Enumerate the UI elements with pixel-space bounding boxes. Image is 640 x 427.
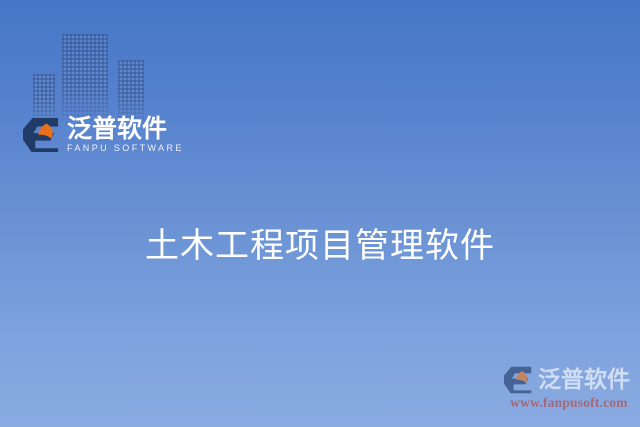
skyline-tower-center	[62, 34, 108, 122]
watermark-brand-row: 泛普软件	[503, 366, 635, 394]
watermark-name-cn: 泛普软件	[538, 369, 630, 392]
page-title: 土木工程项目管理软件	[0, 218, 640, 267]
skyline-tower-right	[118, 60, 144, 122]
watermark-url: www.fanpusoft.com	[503, 395, 635, 411]
brand-name-en: FANPU SOFTWARE	[67, 144, 184, 153]
brand-lockup: 泛普软件 FANPU SOFTWARE	[22, 116, 184, 153]
brand-text-group: 泛普软件 FANPU SOFTWARE	[67, 116, 184, 153]
fanpu-logo-icon	[22, 117, 60, 153]
fanpu-logo-icon	[503, 366, 533, 394]
watermark: 泛普软件 www.fanpusoft.com	[503, 366, 635, 411]
dot-matrix-skyline-icon	[33, 34, 145, 122]
skyline-tower-left	[33, 74, 55, 122]
brand-name-cn: 泛普软件	[67, 116, 184, 141]
banner-canvas: 泛普软件 FANPU SOFTWARE 土木工程项目管理软件 泛普软件 www.…	[0, 0, 640, 427]
